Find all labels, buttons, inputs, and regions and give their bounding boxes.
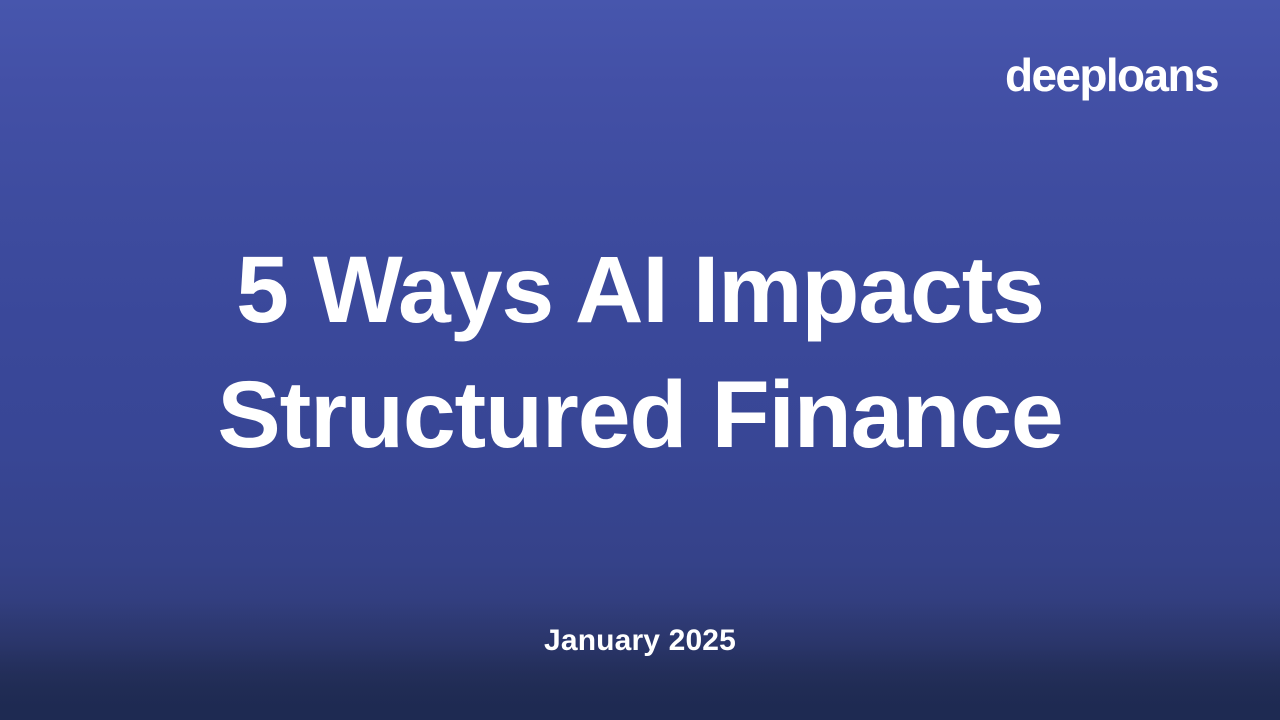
slide-title: 5 Ways AI Impacts Structured Finance: [0, 228, 1280, 478]
bottom-gradient-band: [0, 600, 1280, 720]
slide-date: January 2025: [0, 623, 1280, 659]
title-line-1: 5 Ways AI Impacts: [0, 228, 1280, 353]
title-slide: deeploans 5 Ways AI Impacts Structured F…: [0, 0, 1280, 720]
title-line-2: Structured Finance: [0, 353, 1280, 478]
deeploans-logo: deeploans: [1005, 52, 1218, 98]
